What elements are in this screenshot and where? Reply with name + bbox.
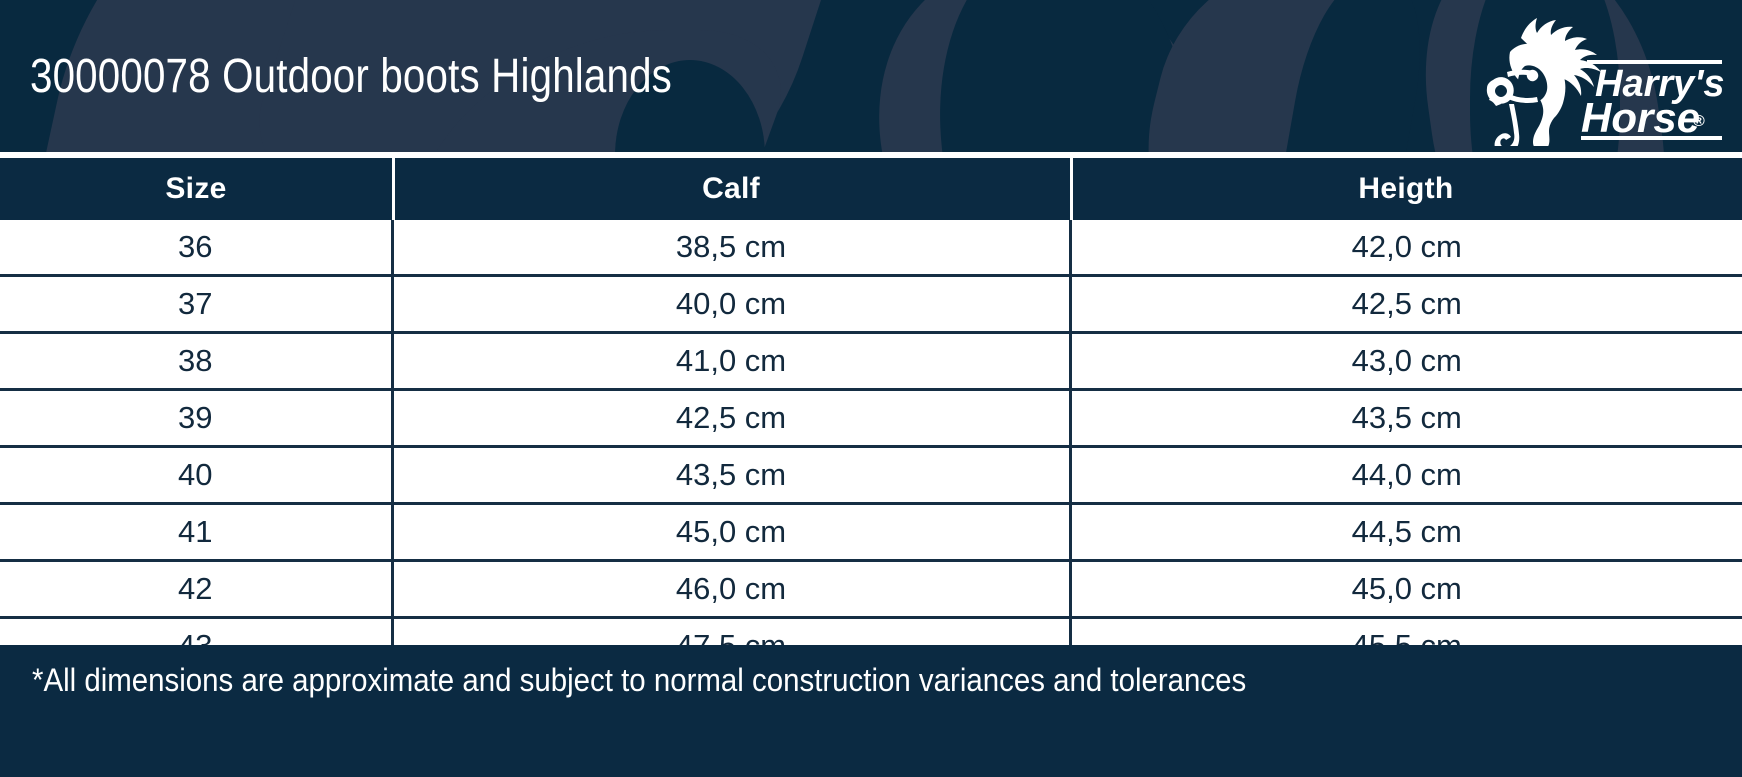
cell-height: 43,0 cm xyxy=(1070,333,1742,390)
table-header: Size Calf Heigth xyxy=(0,158,1742,220)
cell-height: 42,0 cm xyxy=(1070,220,1742,276)
cell-calf: 41,0 cm xyxy=(392,333,1070,390)
column-header-size: Size xyxy=(0,158,392,220)
brand-logo: Harry's Horse ® xyxy=(1469,8,1724,146)
cell-calf: 45,0 cm xyxy=(392,504,1070,561)
footnote-band: *All dimensions are approximate and subj… xyxy=(0,645,1742,777)
column-header-heigth: Heigth xyxy=(1070,158,1742,220)
table-row: 41 45,0 cm 44,5 cm xyxy=(0,504,1742,561)
cell-calf: 38,5 cm xyxy=(392,220,1070,276)
column-header-calf: Calf xyxy=(392,158,1070,220)
table-row: 37 40,0 cm 42,5 cm xyxy=(0,276,1742,333)
cell-size: 37 xyxy=(0,276,392,333)
cell-size: 41 xyxy=(0,504,392,561)
cell-height: 44,5 cm xyxy=(1070,504,1742,561)
cell-height: 42,5 cm xyxy=(1070,276,1742,333)
cell-size: 36 xyxy=(0,220,392,276)
table-row: 42 46,0 cm 45,0 cm xyxy=(0,561,1742,618)
cell-height: 45,0 cm xyxy=(1070,561,1742,618)
cell-calf: 40,0 cm xyxy=(392,276,1070,333)
table-header-row: Size Calf Heigth xyxy=(0,158,1742,220)
cell-calf: 46,0 cm xyxy=(392,561,1070,618)
size-chart-sheet: 30000078 Outdoor boots Highlands xyxy=(0,0,1742,777)
watermark-shape xyxy=(920,0,1210,152)
cell-height: 44,0 cm xyxy=(1070,447,1742,504)
footnote-text: *All dimensions are approximate and subj… xyxy=(32,659,1246,701)
cell-size: 38 xyxy=(0,333,392,390)
page-title: 30000078 Outdoor boots Highlands xyxy=(30,46,672,108)
table-row: 36 38,5 cm 42,0 cm xyxy=(0,220,1742,276)
logo-registered-mark: ® xyxy=(1693,113,1705,130)
table-body: 36 38,5 cm 42,0 cm 37 40,0 cm 42,5 cm 38… xyxy=(0,220,1742,673)
cell-calf: 43,5 cm xyxy=(392,447,1070,504)
size-table: Size Calf Heigth 36 38,5 cm 42,0 cm 37 4… xyxy=(0,158,1742,673)
cell-calf: 42,5 cm xyxy=(392,390,1070,447)
logo-text-horse: Horse xyxy=(1581,94,1700,141)
table-row: 39 42,5 cm 43,5 cm xyxy=(0,390,1742,447)
watermark-shape xyxy=(848,0,1241,152)
table-row: 38 41,0 cm 43,0 cm xyxy=(0,333,1742,390)
cell-size: 39 xyxy=(0,390,392,447)
cell-height: 43,5 cm xyxy=(1070,390,1742,447)
table-row: 40 43,5 cm 44,0 cm xyxy=(0,447,1742,504)
watermark-shape xyxy=(1113,0,1448,152)
cell-size: 40 xyxy=(0,447,392,504)
page-banner: 30000078 Outdoor boots Highlands xyxy=(0,0,1742,152)
size-table-wrapper: Size Calf Heigth 36 38,5 cm 42,0 cm 37 4… xyxy=(0,158,1742,673)
watermark-shape xyxy=(1264,0,1437,152)
cell-size: 42 xyxy=(0,561,392,618)
